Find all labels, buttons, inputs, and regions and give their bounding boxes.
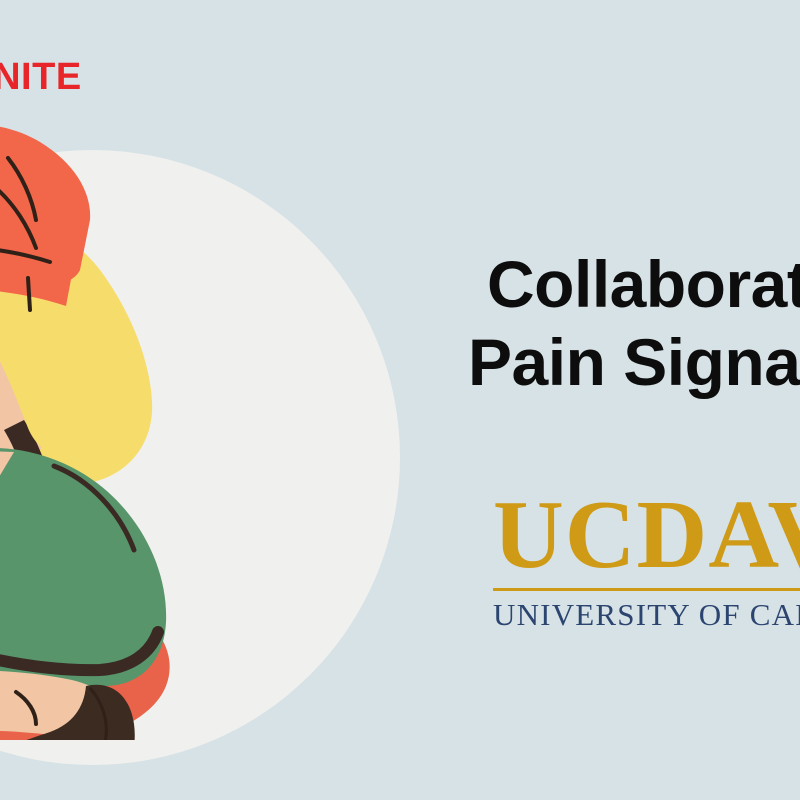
crouching-woman-illustration <box>0 120 264 740</box>
presentation-slide: IGNITE Collaboratory Pain Signature UCDA… <box>0 0 800 800</box>
title-line-1: Collaboratory <box>487 246 800 324</box>
ucdavis-wordmark: UCDAVIS <box>493 489 800 582</box>
title-line-2: Pain Signature <box>468 324 800 402</box>
ucdavis-subtitle: UNIVERSITY OF CALIFORNIA <box>493 597 800 633</box>
slide-title: Collaboratory Pain Signature <box>487 246 800 402</box>
ignite-logo: IGNITE <box>0 58 82 96</box>
ucdavis-logo: UCDAVIS UNIVERSITY OF CALIFORNIA <box>493 489 800 633</box>
